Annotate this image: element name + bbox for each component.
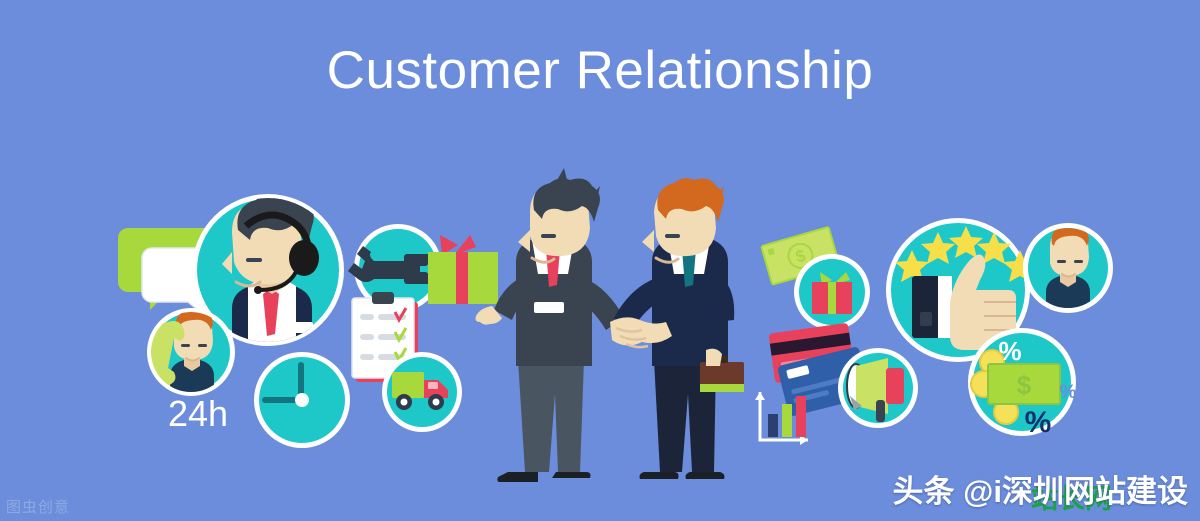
watermark-publisher: 头条 @i深圳网站建设 (893, 476, 1188, 507)
megaphone-icon (838, 348, 918, 428)
svg-text:$: $ (1017, 370, 1032, 400)
service-hours-clock-icon (254, 352, 350, 448)
watermark-stock-source: 图虫创意 (6, 500, 70, 515)
bar-chart-icon (755, 392, 808, 445)
discount-money-icon: $ % % % (968, 328, 1077, 439)
gift-box-red-icon (794, 254, 870, 330)
phone-operator-avatar-icon (147, 308, 235, 396)
svg-text:%: % (1025, 406, 1052, 439)
svg-text:%: % (1060, 382, 1077, 403)
page-title: Customer Relationship (0, 44, 1200, 97)
delivery-truck-icon (382, 352, 462, 432)
service-hours-label: 24h (168, 396, 228, 432)
svg-text:%: % (998, 336, 1021, 366)
customer-avatar-icon (1023, 223, 1113, 313)
gift-box-green-icon (428, 235, 498, 304)
banner-illustration: $ (0, 0, 1200, 521)
businessman-gray-icon (476, 168, 625, 482)
